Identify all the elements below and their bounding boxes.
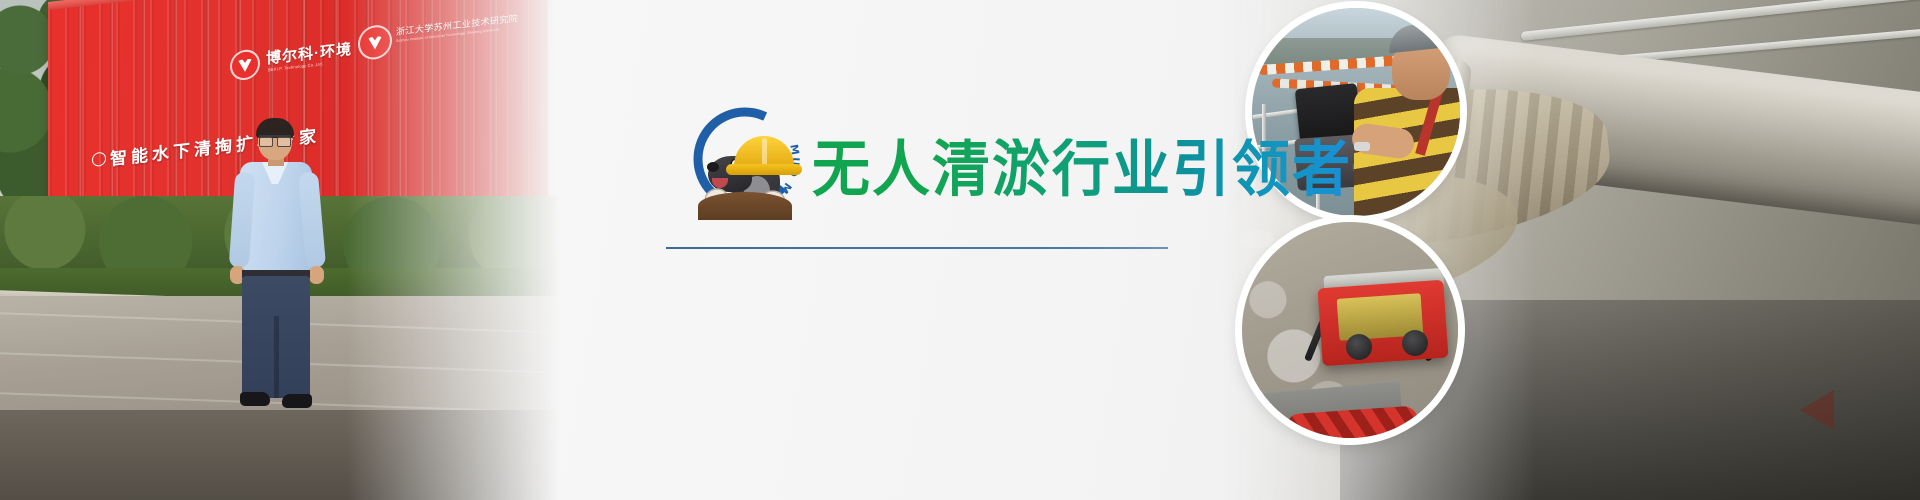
title-divider bbox=[666, 247, 1168, 249]
dirt-mound bbox=[698, 192, 792, 220]
wristwatch bbox=[1354, 142, 1370, 151]
pipe-direction-marker bbox=[1800, 390, 1834, 430]
hero-banner: 博尔科·环境 BEXI.P. Technology Co.,Ltd. 浙江大学苏… bbox=[0, 0, 1920, 500]
slogan-badge-icon bbox=[92, 151, 106, 167]
mole-nose-icon bbox=[707, 162, 719, 172]
container-and-engineer-photo: 博尔科·环境 BEXI.P. Technology Co.,Ltd. 浙江大学苏… bbox=[0, 0, 560, 500]
mud-mole-logo: MUD MOLE bbox=[686, 100, 804, 218]
page-title: 无人清淤行业引领者 bbox=[812, 138, 1352, 199]
engineer-figure bbox=[228, 120, 324, 410]
center-content: MUD MOLE 无人清淤行业引领者 bbox=[660, 0, 1280, 500]
operator-figure bbox=[1354, 14, 1460, 216]
container-brand-mark bbox=[230, 48, 260, 81]
eyeglasses-icon bbox=[259, 135, 291, 145]
partner-emblem bbox=[358, 23, 392, 61]
path-shadow bbox=[0, 410, 560, 500]
